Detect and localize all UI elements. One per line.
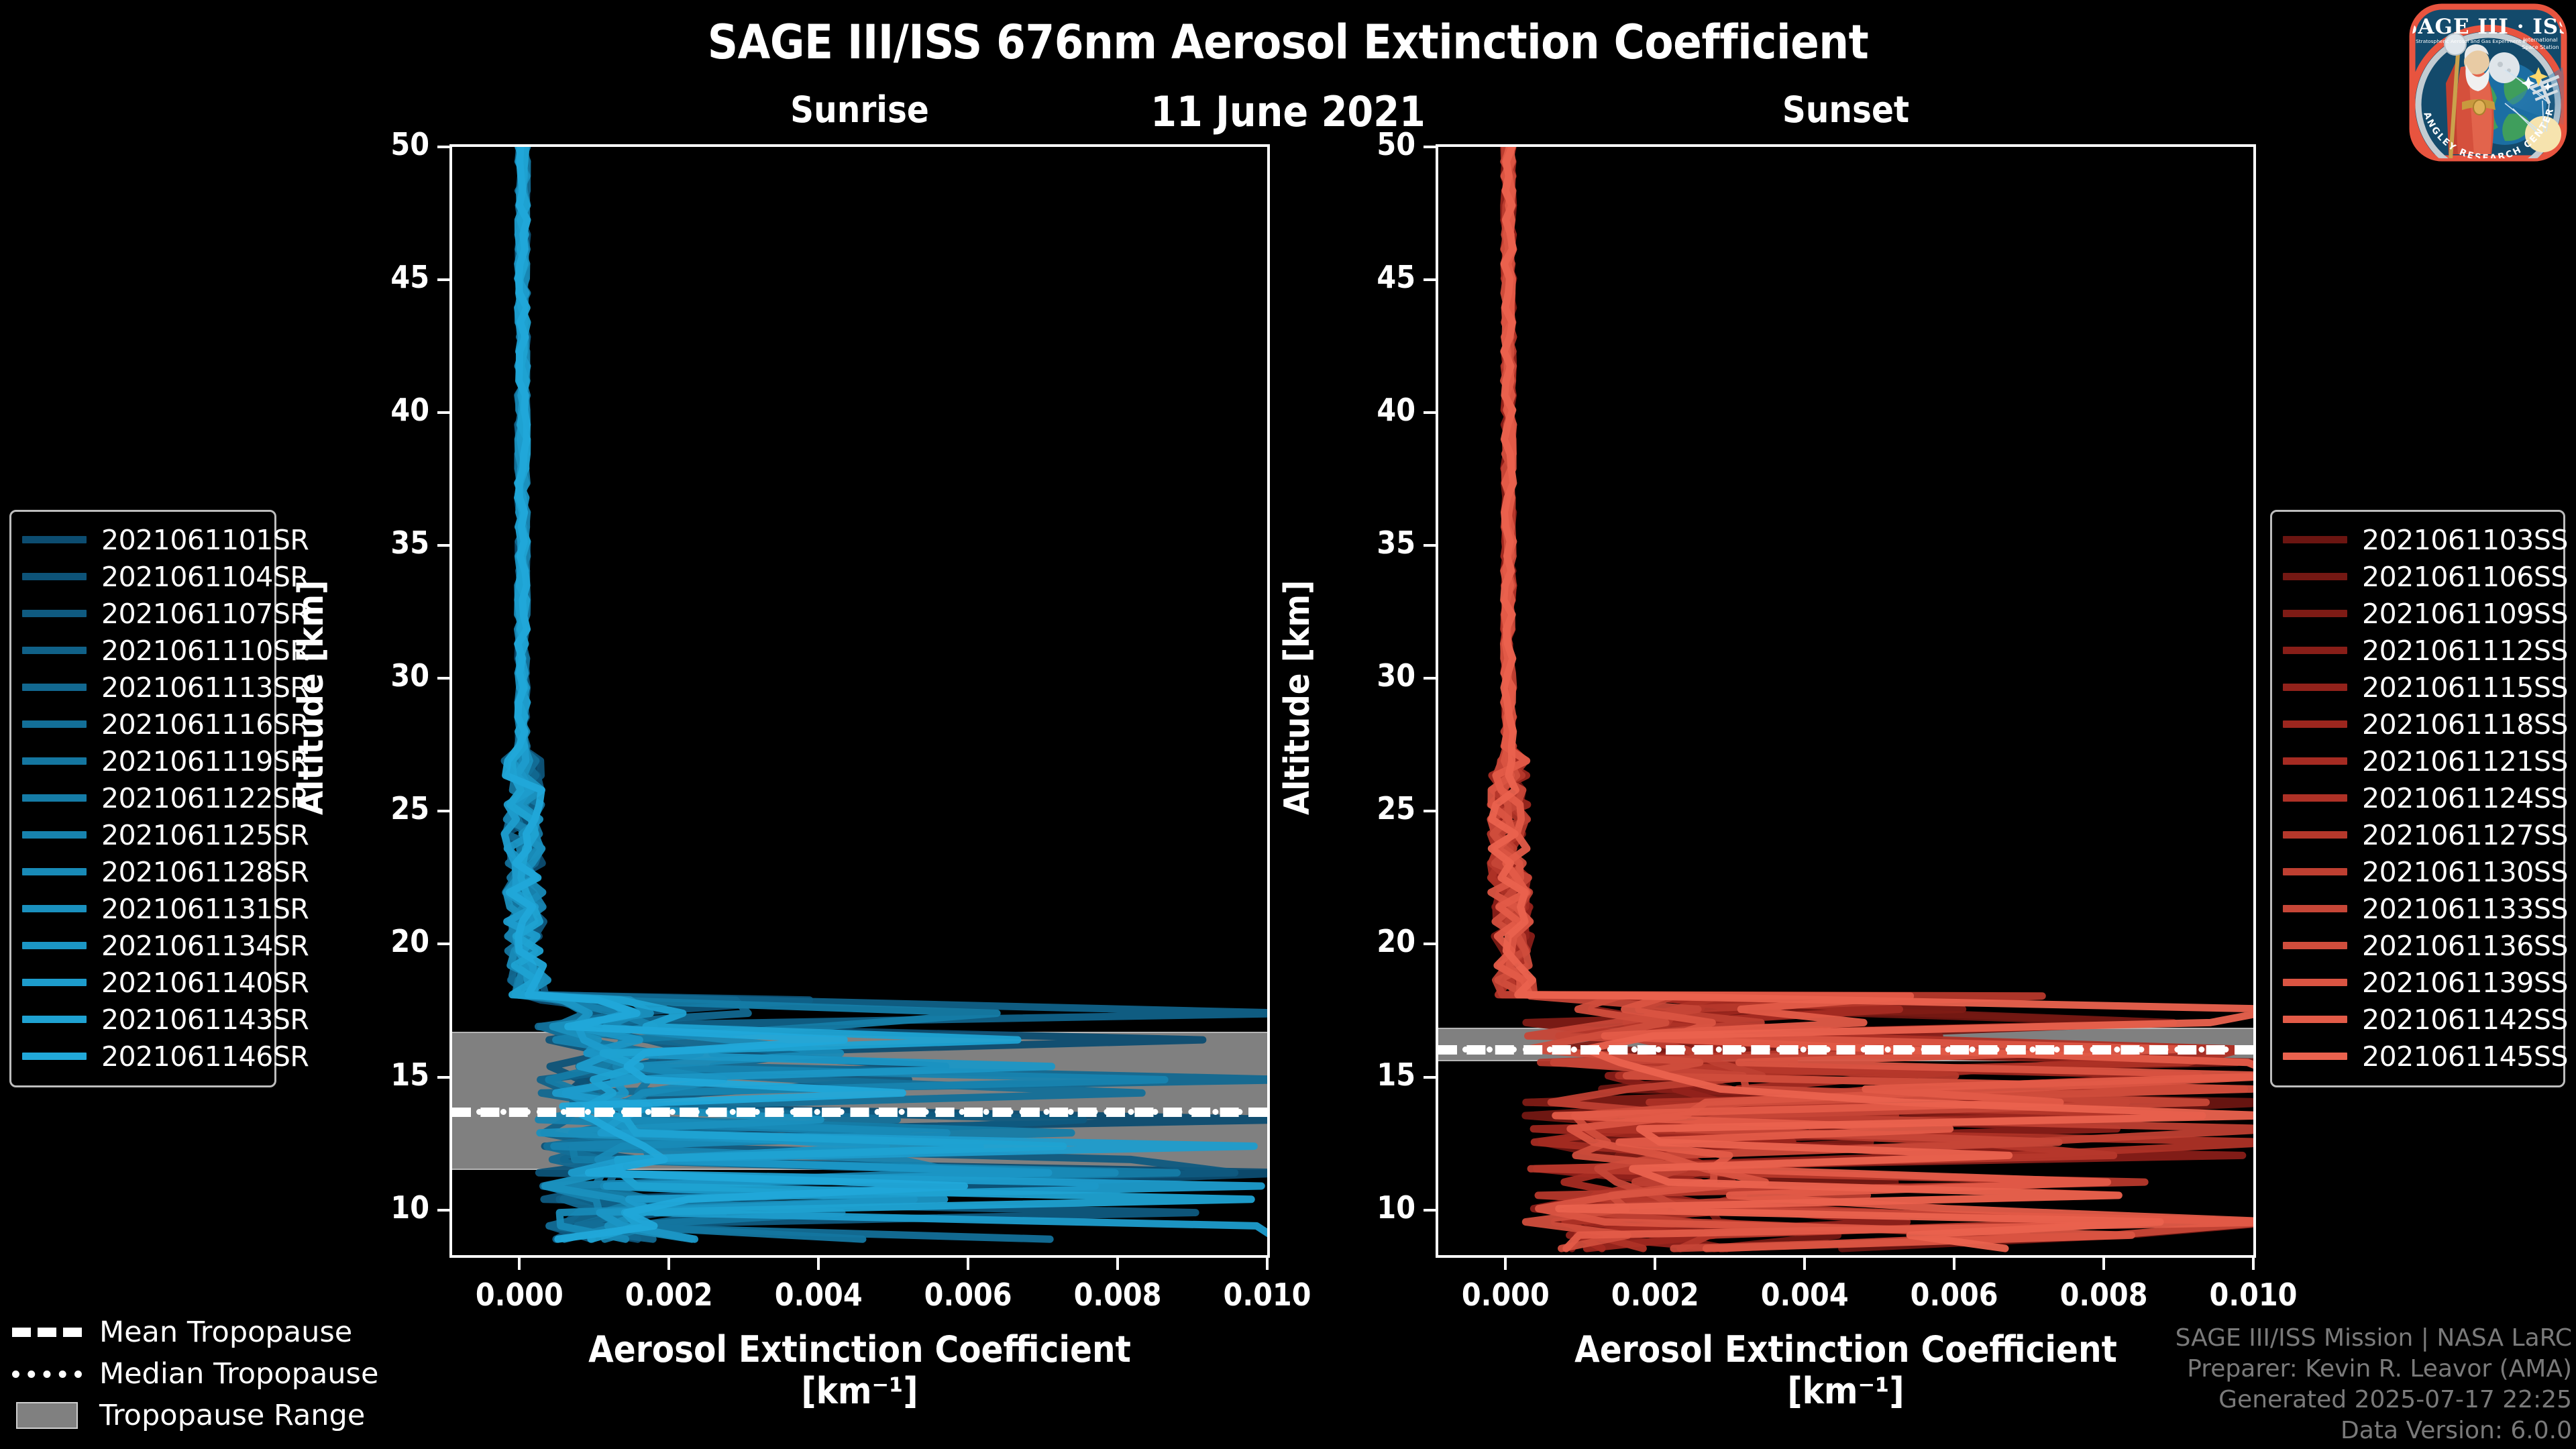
x-tick-label-sunrise-0.004: 0.004	[731, 1277, 906, 1313]
x-axis-label-text-sunrise: Aerosol Extinction Coefficient	[449, 1329, 1270, 1371]
legend-label: 2021061118SS	[2362, 708, 2568, 741]
x-tick-label-sunset-0.008: 0.008	[2017, 1277, 2191, 1313]
x-tick-sunset-0.006	[1953, 1258, 1955, 1270]
tropopause-median-label: Median Tropopause	[99, 1357, 378, 1391]
legend-label: 2021061119SR	[101, 745, 309, 777]
y-tick-sunrise-10	[437, 1209, 449, 1212]
x-tick-label-sunrise-0.000: 0.000	[432, 1277, 606, 1313]
y-tick-label-sunrise-30: 30	[322, 657, 429, 694]
x-tick-label-sunrise-0.002: 0.002	[582, 1277, 756, 1313]
credit-mission: SAGE III/ISS Mission | NASA LaRC	[2176, 1323, 2572, 1354]
legend-label: 2021061103SS	[2362, 524, 2568, 556]
x-tick-label-sunset-0.004: 0.004	[1717, 1277, 1892, 1313]
y-tick-sunrise-40	[437, 411, 449, 414]
legend-label: 2021061116SR	[101, 708, 309, 741]
legend-swatch-icon	[22, 905, 87, 912]
legend-label: 2021061133SS	[2362, 893, 2568, 925]
legend-label: 2021061124SS	[2362, 782, 2568, 814]
series-lines-sunset	[1438, 147, 2253, 1255]
legend-swatch-icon	[22, 757, 87, 765]
y-tick-sunset-15	[1424, 1076, 1436, 1079]
legend-swatch-icon	[22, 647, 87, 654]
x-tick-label-sunset-0.006: 0.006	[1867, 1277, 2041, 1313]
legend-row[interactable]: 2021061116SR	[22, 706, 264, 743]
y-tick-label-sunrise-35: 35	[322, 525, 429, 561]
legend-swatch-icon	[22, 1016, 87, 1023]
legend-swatch-icon	[22, 794, 87, 802]
legend-row[interactable]: 2021061125SR	[22, 816, 264, 853]
credit-generated: Generated 2025-07-17 22:25	[2176, 1385, 2572, 1415]
gray-swatch-icon	[12, 1402, 82, 1429]
x-tick-sunrise-0.010	[1266, 1258, 1269, 1270]
legend-label: 2021061146SR	[101, 1040, 309, 1073]
x-axis-label-sunrise: Aerosol Extinction Coefficient[km⁻¹]	[449, 1329, 1270, 1412]
legend-row[interactable]: 2021061109SS	[2283, 595, 2553, 632]
y-tick-label-sunrise-45: 45	[322, 259, 429, 295]
svg-text:Space Station: Space Station	[2522, 44, 2559, 50]
y-tick-sunrise-50	[437, 146, 449, 148]
y-tick-sunrise-45	[437, 278, 449, 281]
y-tick-sunset-25	[1424, 810, 1436, 812]
y-tick-label-sunrise-15: 15	[322, 1057, 429, 1093]
legend-label: 2021061125SR	[101, 819, 309, 851]
legend-row[interactable]: 2021061131SR	[22, 890, 264, 927]
legend-sunrise[interactable]: 2021061101SR2021061104SR2021061107SR2021…	[9, 510, 276, 1087]
legend-row[interactable]: 2021061104SR	[22, 558, 264, 595]
legend-swatch-icon	[2283, 1053, 2347, 1060]
y-tick-sunrise-25	[437, 810, 449, 812]
legend-row[interactable]: 2021061112SS	[2283, 632, 2553, 669]
tropopause-legend-median: Median Tropopause	[12, 1353, 361, 1395]
legend-label: 2021061139SS	[2362, 967, 2568, 999]
x-axis-label-sunset: Aerosol Extinction Coefficient[km⁻¹]	[1436, 1329, 2256, 1412]
svg-text:International: International	[2523, 37, 2557, 43]
y-tick-sunset-30	[1424, 677, 1436, 680]
legend-row[interactable]: 2021061140SR	[22, 964, 264, 1001]
y-tick-sunset-40	[1424, 411, 1436, 414]
legend-swatch-icon	[22, 868, 87, 875]
legend-swatch-icon	[22, 684, 87, 691]
legend-label: 2021061122SR	[101, 782, 309, 814]
legend-row[interactable]: 2021061128SR	[22, 853, 264, 890]
legend-label: 2021061140SR	[101, 967, 309, 999]
legend-row[interactable]: 2021061130SS	[2283, 853, 2553, 890]
legend-row[interactable]: 2021061142SS	[2283, 1001, 2553, 1038]
y-tick-label-sunset-35: 35	[1308, 525, 1415, 561]
legend-row[interactable]: 2021061103SS	[2283, 521, 2553, 558]
legend-swatch-icon	[22, 831, 87, 839]
x-tick-sunset-0.008	[2102, 1258, 2105, 1270]
y-tick-sunset-50	[1424, 146, 1436, 148]
legend-swatch-icon	[2283, 647, 2347, 654]
tropopause-mean-line-sunset	[1438, 1045, 2253, 1055]
x-tick-sunrise-0.008	[1116, 1258, 1119, 1270]
tropopause-range-label: Tropopause Range	[99, 1399, 365, 1432]
legend-swatch-icon	[22, 610, 87, 617]
legend-swatch-icon	[22, 979, 87, 986]
legend-swatch-icon	[22, 720, 87, 728]
legend-row[interactable]: 2021061115SS	[2283, 669, 2553, 706]
x-axis-label-units-sunset: [km⁻¹]	[1436, 1371, 2256, 1412]
legend-swatch-icon	[2283, 979, 2347, 986]
legend-swatch-icon	[2283, 573, 2347, 580]
y-tick-label-sunset-20: 20	[1308, 923, 1415, 959]
legend-swatch-icon	[2283, 905, 2347, 912]
tropopause-legend-range: Tropopause Range	[12, 1395, 361, 1436]
legend-swatch-icon	[22, 536, 87, 543]
x-tick-sunset-0.004	[1803, 1258, 1806, 1270]
x-tick-label-sunset-0.002: 0.002	[1568, 1277, 1742, 1313]
y-tick-label-sunset-50: 50	[1308, 126, 1415, 162]
legend-label: 2021061113SR	[101, 672, 309, 704]
legend-row[interactable]: 2021061139SS	[2283, 964, 2553, 1001]
legend-swatch-icon	[22, 573, 87, 580]
x-tick-sunrise-0.000	[518, 1258, 521, 1270]
legend-swatch-icon	[22, 942, 87, 949]
x-tick-sunset-0.010	[2252, 1258, 2255, 1270]
legend-swatch-icon	[22, 1053, 87, 1060]
legend-label: 2021061112SS	[2362, 635, 2568, 667]
legend-label: 2021061134SR	[101, 930, 309, 962]
legend-row[interactable]: 2021061119SR	[22, 743, 264, 780]
legend-swatch-icon	[2283, 684, 2347, 691]
legend-label: 2021061127SS	[2362, 819, 2568, 851]
legend-row[interactable]: 2021061136SS	[2283, 927, 2553, 964]
credits-block: SAGE III/ISS Mission | NASA LaRC Prepare…	[2176, 1323, 2572, 1446]
legend-row[interactable]: 2021061107SR	[22, 595, 264, 632]
legend-label: 2021061106SS	[2362, 561, 2568, 593]
legend-label: 2021061104SR	[101, 561, 309, 593]
x-tick-label-sunrise-0.010: 0.010	[1180, 1277, 1354, 1313]
y-tick-sunrise-20	[437, 943, 449, 945]
legend-swatch-icon	[2283, 1016, 2347, 1023]
y-tick-label-sunrise-40: 40	[322, 392, 429, 428]
y-tick-label-sunset-40: 40	[1308, 392, 1415, 428]
legend-row[interactable]: 2021061122SR	[22, 780, 264, 816]
legend-row[interactable]: 2021061124SS	[2283, 780, 2553, 816]
dotted-line-icon	[12, 1360, 82, 1387]
legend-row[interactable]: 2021061113SR	[22, 669, 264, 706]
x-tick-label-sunrise-0.006: 0.006	[881, 1277, 1055, 1313]
dashed-line-icon	[12, 1319, 82, 1346]
y-axis-label-sunset: Altitude [km]	[1277, 580, 1318, 815]
y-tick-label-sunset-45: 45	[1308, 259, 1415, 295]
legend-row[interactable]: 2021061133SS	[2283, 890, 2553, 927]
y-tick-sunset-20	[1424, 943, 1436, 945]
y-tick-sunset-10	[1424, 1209, 1436, 1212]
y-tick-sunset-35	[1424, 544, 1436, 547]
logo-subtitle-sage: Stratospheric Aerosol and Gas Experiment…	[2416, 38, 2527, 44]
legend-row[interactable]: 2021061127SS	[2283, 816, 2553, 853]
credit-preparer: Preparer: Kevin R. Leavor (AMA)	[2176, 1354, 2572, 1385]
legend-row[interactable]: 2021061101SR	[22, 521, 264, 558]
legend-row[interactable]: 2021061106SS	[2283, 558, 2553, 595]
legend-label: 2021061115SS	[2362, 672, 2568, 704]
legend-label: 2021061145SS	[2362, 1040, 2568, 1073]
legend-swatch-icon	[2283, 610, 2347, 617]
legend-sunset[interactable]: 2021061103SS2021061106SS2021061109SS2021…	[2270, 510, 2565, 1087]
plot-area-sunset[interactable]	[1436, 144, 2256, 1258]
panel-title-sunrise: Sunrise	[449, 89, 1270, 131]
legend-label: 2021061131SR	[101, 893, 309, 925]
y-tick-sunrise-35	[437, 544, 449, 547]
y-tick-label-sunset-15: 15	[1308, 1057, 1415, 1093]
tropopause-mean-label: Mean Tropopause	[99, 1316, 352, 1349]
x-tick-sunset-0.000	[1504, 1258, 1507, 1270]
y-tick-label-sunset-25: 25	[1308, 790, 1415, 826]
legend-label: 2021061128SR	[101, 856, 309, 888]
tropopause-legend: Mean Tropopause Median Tropopause Tropop…	[12, 1311, 361, 1436]
x-tick-sunset-0.002	[1654, 1258, 1656, 1270]
x-tick-label-sunset-0.010: 0.010	[2166, 1277, 2341, 1313]
y-tick-label-sunrise-10: 10	[322, 1189, 429, 1226]
legend-swatch-icon	[2283, 536, 2347, 543]
x-axis-label-units-sunrise: [km⁻¹]	[449, 1371, 1270, 1412]
x-tick-label-sunrise-0.008: 0.008	[1030, 1277, 1205, 1313]
legend-row[interactable]: 2021061134SR	[22, 927, 264, 964]
y-tick-sunrise-15	[437, 1076, 449, 1079]
legend-swatch-icon	[2283, 831, 2347, 839]
legend-row[interactable]: 2021061118SS	[2283, 706, 2553, 743]
page-title: SAGE III/ISS 676nm Aerosol Extinction Co…	[0, 15, 2576, 70]
legend-swatch-icon	[2283, 757, 2347, 765]
y-tick-sunrise-30	[437, 677, 449, 680]
credit-version: Data Version: 6.0.0	[2176, 1415, 2572, 1446]
panel-title-sunset: Sunset	[1436, 89, 2256, 131]
legend-row[interactable]: 2021061146SR	[22, 1038, 264, 1075]
legend-swatch-icon	[2283, 720, 2347, 728]
x-tick-sunrise-0.002	[667, 1258, 670, 1270]
legend-swatch-icon	[2283, 794, 2347, 802]
y-tick-label-sunrise-25: 25	[322, 790, 429, 826]
legend-label: 2021061110SR	[101, 635, 309, 667]
legend-row[interactable]: 2021061143SR	[22, 1001, 264, 1038]
x-tick-label-sunset-0.000: 0.000	[1418, 1277, 1593, 1313]
legend-label: 2021061142SS	[2362, 1004, 2568, 1036]
y-tick-label-sunset-30: 30	[1308, 657, 1415, 694]
sage-iii-iss-logo-icon: SAGE III · ISS Stratospheric Aerosol and…	[2404, 3, 2572, 170]
legend-label: 2021061121SS	[2362, 745, 2568, 777]
y-tick-label-sunrise-50: 50	[322, 126, 429, 162]
legend-swatch-icon	[2283, 942, 2347, 949]
tropopause-mean-line-sunrise	[452, 1108, 1267, 1117]
x-tick-sunrise-0.004	[817, 1258, 820, 1270]
legend-label: 2021061130SS	[2362, 856, 2568, 888]
y-tick-label-sunset-10: 10	[1308, 1189, 1415, 1226]
legend-label: 2021061109SS	[2362, 598, 2568, 630]
legend-label: 2021061136SS	[2362, 930, 2568, 962]
legend-swatch-icon	[2283, 868, 2347, 875]
legend-label: 2021061101SR	[101, 524, 309, 556]
legend-row[interactable]: 2021061145SS	[2283, 1038, 2553, 1075]
legend-label: 2021061143SR	[101, 1004, 309, 1036]
plot-area-sunrise[interactable]	[449, 144, 1270, 1258]
tropopause-legend-mean: Mean Tropopause	[12, 1311, 361, 1353]
y-tick-label-sunrise-20: 20	[322, 923, 429, 959]
legend-row[interactable]: 2021061121SS	[2283, 743, 2553, 780]
x-tick-sunrise-0.006	[967, 1258, 969, 1270]
legend-row[interactable]: 2021061110SR	[22, 632, 264, 669]
logo-title: SAGE III · ISS	[2404, 15, 2572, 39]
plot-inner-sunset	[1438, 147, 2253, 1255]
x-axis-label-text-sunset: Aerosol Extinction Coefficient	[1436, 1329, 2256, 1371]
plot-inner-sunrise	[452, 147, 1267, 1255]
series-lines-sunrise	[452, 147, 1267, 1255]
y-tick-sunset-45	[1424, 278, 1436, 281]
legend-label: 2021061107SR	[101, 598, 309, 630]
